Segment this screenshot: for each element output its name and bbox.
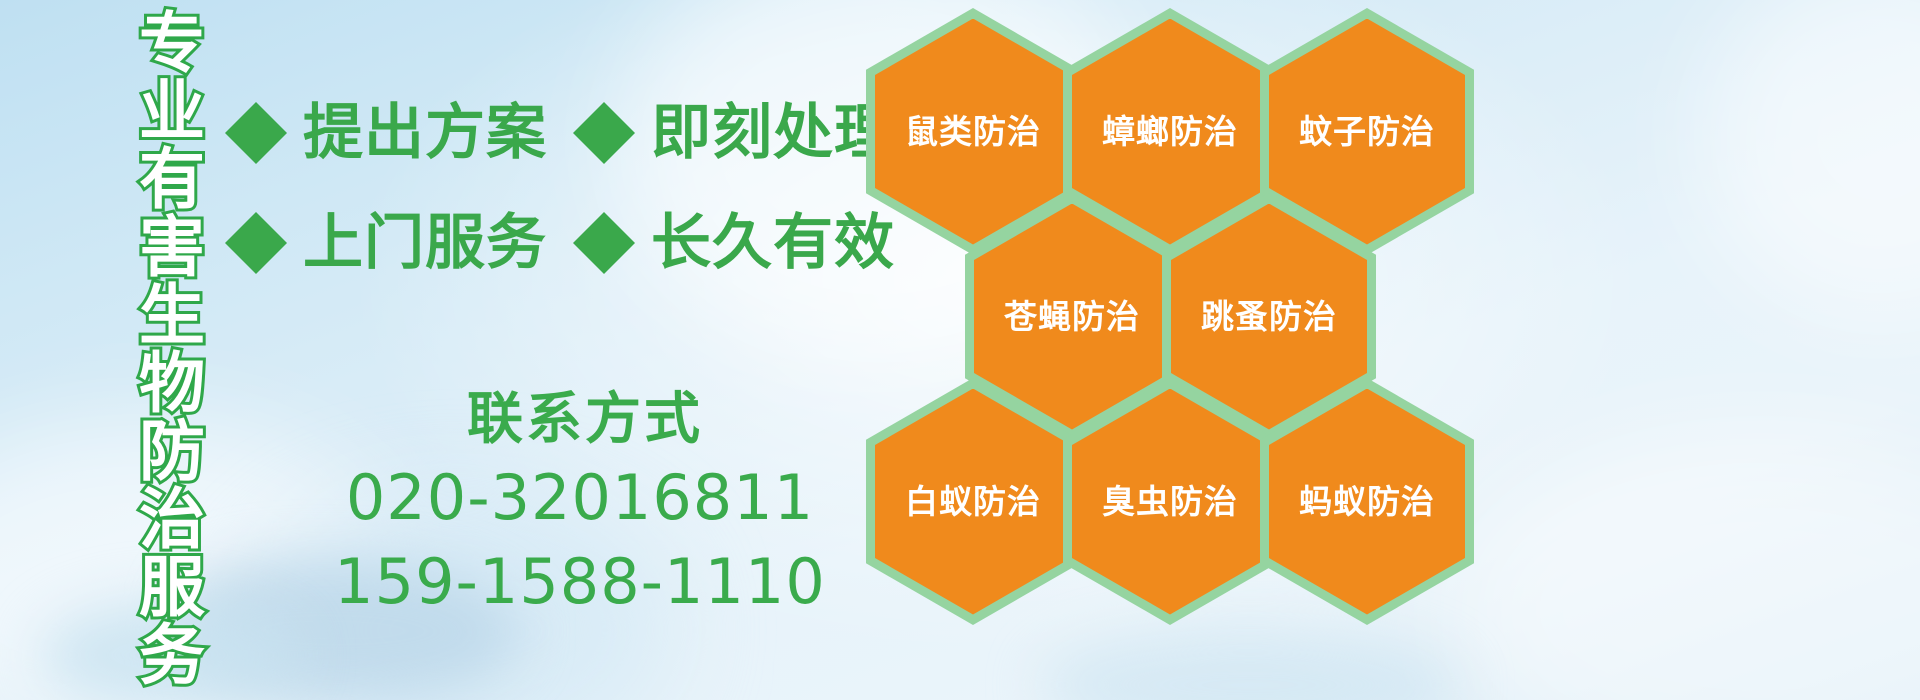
hex-inner: 白蚁防治 <box>875 389 1071 615</box>
feature-label: 长久有效 <box>651 213 895 273</box>
hex-inner: 臭虫防治 <box>1072 389 1268 615</box>
hex-inner: 蚂蚁防治 <box>1269 389 1465 615</box>
diamond-icon <box>573 71 635 133</box>
hex-label: 跳蚤防治 <box>1201 300 1337 333</box>
background-blob <box>1700 0 1920 320</box>
diamond-icon <box>225 181 287 243</box>
diamond-icon <box>573 181 635 243</box>
feature-row: 提出方案 即刻处理 <box>225 78 885 188</box>
feature-label: 上门服务 <box>303 213 547 273</box>
feature-label: 即刻处理 <box>651 103 895 163</box>
feature-list: 提出方案 即刻处理 上门服务 长久有效 <box>225 78 885 298</box>
vertical-title: 专业有害生物防治服务 <box>108 8 200 680</box>
hex-label: 白蚁防治 <box>905 485 1041 518</box>
hex-label: 臭虫防治 <box>1102 485 1238 518</box>
contact-phone-mobile[interactable]: 159-1588-1110 <box>300 544 860 620</box>
feature-label: 提出方案 <box>303 103 547 163</box>
hex-label: 苍蝇防治 <box>1004 300 1140 333</box>
hex-label: 蚊子防治 <box>1299 115 1435 148</box>
hex-label: 蟑螂防治 <box>1102 115 1238 148</box>
contact-title: 联系方式 <box>310 388 860 452</box>
contact-phone-landline[interactable]: 020-32016811 <box>300 460 860 536</box>
pest-control-banner: 专业有害生物防治服务 提出方案 即刻处理 上门服务 长久有效 联系方式 <box>0 0 1920 700</box>
feature-row: 上门服务 长久有效 <box>225 188 885 298</box>
feature-item-onsite-service: 上门服务 <box>225 212 547 274</box>
hex-label: 蚂蚁防治 <box>1299 485 1435 518</box>
feature-item-immediate-handling: 即刻处理 <box>573 102 895 164</box>
diamond-icon <box>225 71 287 133</box>
feature-item-long-lasting: 长久有效 <box>573 212 895 274</box>
contact-block: 联系方式 020-32016811 159-1588-1110 <box>300 388 860 620</box>
service-hex-grid: 鼠类防治 蟑螂防治 蚊子防治 苍蝇防治 跳蚤防治 白蚁防治 <box>860 0 1580 700</box>
feature-item-propose-plan: 提出方案 <box>225 102 547 164</box>
hex-label: 鼠类防治 <box>905 115 1041 148</box>
